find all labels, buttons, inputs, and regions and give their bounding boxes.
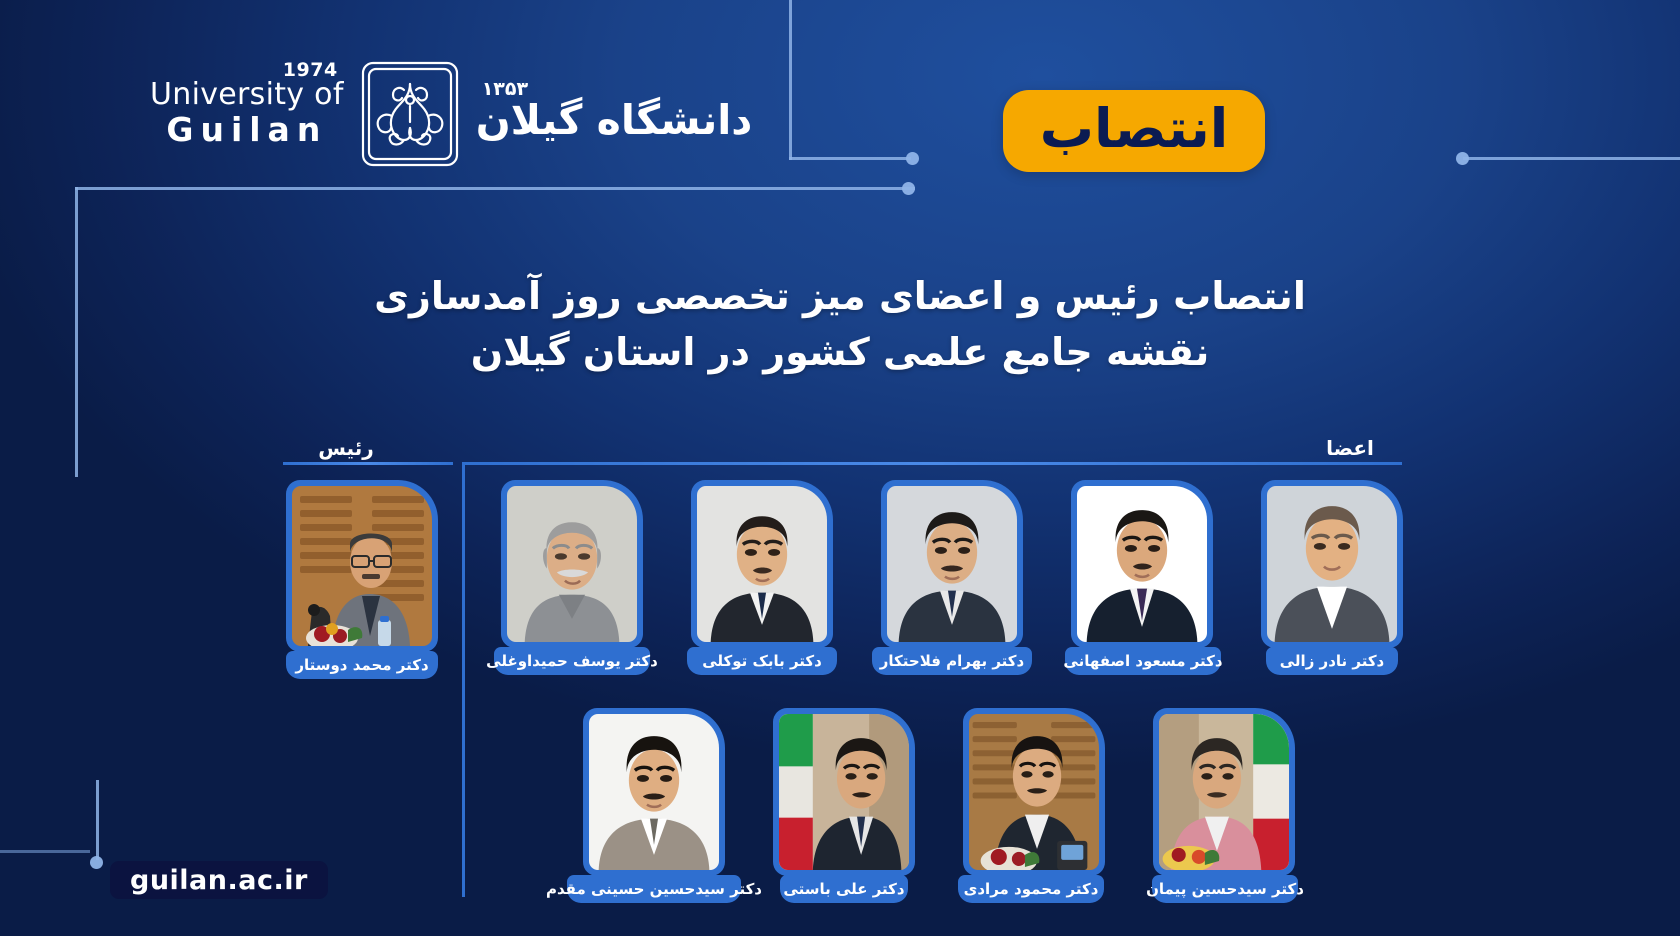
decorative-line-topright-horizontal (789, 157, 911, 160)
logo-university-word: University of (150, 79, 344, 111)
decorative-line-right-edge (1463, 157, 1680, 160)
person-name-chair: دکتر محمد دوستار (286, 651, 438, 679)
decorative-dot-url-connector (90, 856, 103, 869)
person-card-member-5 (1261, 480, 1403, 648)
person-name-member-4: دکتر مسعود اصفهانی (1065, 647, 1221, 675)
guilan-university-emblem-icon (360, 60, 460, 168)
decorative-line-url-connector (96, 780, 99, 860)
logo-guilan-word: Guilan (150, 111, 344, 149)
person-photo (1159, 714, 1289, 870)
person-name-member-8: دکتر محمود مرادی (958, 875, 1104, 903)
logo-english-text: 1974 University of Guilan (150, 79, 344, 148)
person-name-member-7: دکتر علی باستی (780, 875, 908, 903)
person-card-member-1 (501, 480, 643, 648)
person-photo (1077, 486, 1207, 642)
decorative-line-topright-vertical (789, 0, 792, 160)
person-photo (507, 486, 637, 642)
bracket-chair (283, 462, 453, 465)
decorative-line-bottom-left (0, 850, 90, 853)
page-title-line-1: انتصاب رئیس و اعضای میز تخصصی روز آمدساز… (0, 268, 1680, 324)
person-name-member-3: دکتر بهرام فلاحتکار (872, 647, 1032, 675)
person-card-member-4 (1071, 480, 1213, 648)
person-card-member-6 (583, 708, 725, 876)
person-name-member-9: دکتر سیدحسین پیمان (1152, 875, 1298, 903)
appointment-badge: انتصاب (1003, 90, 1265, 172)
page-title-line-2: نقشه جامع علمی کشور در استان گیلان (0, 324, 1680, 380)
person-card-member-8 (963, 708, 1105, 876)
person-card-chair (286, 480, 438, 652)
person-photo (589, 714, 719, 870)
decorative-line-logo-underline (75, 187, 915, 190)
page-title: انتصاب رئیس و اعضای میز تخصصی روز آمدساز… (0, 268, 1680, 380)
university-logo: 1974 University of Guilan ۱۳۵۳ د (150, 60, 752, 168)
person-name-member-2: دکتر بابک توکلی (687, 647, 837, 675)
person-card-member-3 (881, 480, 1023, 648)
person-photo (292, 486, 432, 646)
person-card-member-9 (1153, 708, 1295, 876)
person-photo (779, 714, 909, 870)
person-card-member-7 (773, 708, 915, 876)
person-name-member-1: دکتر یوسف حمیداوغلی (494, 647, 650, 675)
decorative-dot-logo-underline (902, 182, 915, 195)
person-name-member-6: دکتر سیدحسین حسینی مقدم (567, 875, 741, 903)
website-url-badge[interactable]: guilan.ac.ir (110, 861, 328, 899)
person-photo (969, 714, 1099, 870)
section-label-members: اعضا (1290, 436, 1410, 460)
section-label-chair: رئیس (286, 436, 406, 460)
logo-year-gregorian: 1974 (283, 59, 338, 81)
person-card-member-2 (691, 480, 833, 648)
decorative-dot-topright (906, 152, 919, 165)
logo-year-hijri: ۱۳۵۳ (482, 78, 528, 100)
person-photo (887, 486, 1017, 642)
person-name-member-5: دکتر نادر زالی (1266, 647, 1398, 675)
decorative-dot-right-edge (1456, 152, 1469, 165)
appointment-announcement-poster: 1974 University of Guilan ۱۳۵۳ د (0, 0, 1680, 936)
person-photo (1267, 486, 1397, 642)
logo-persian-text: ۱۳۵۳ دانشگاه گیلان (476, 82, 753, 145)
person-photo (697, 486, 827, 642)
